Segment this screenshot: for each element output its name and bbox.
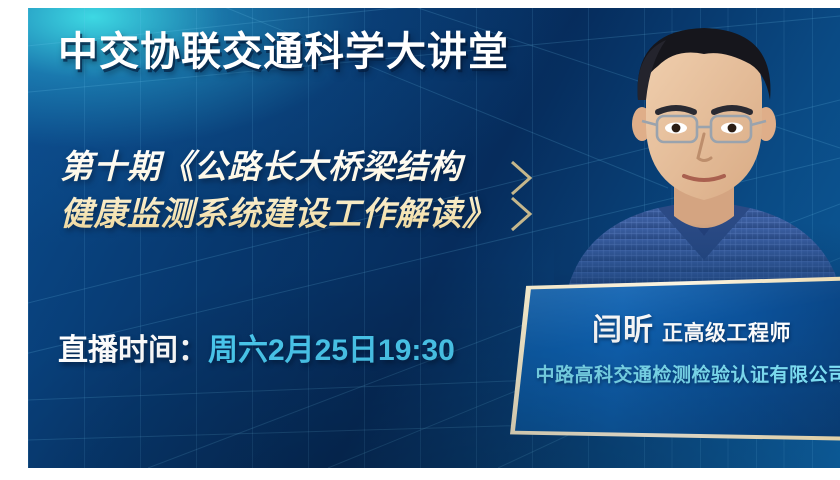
live-time-row: 直播时间：周六2月25日19:30 — [58, 333, 455, 369]
speaker-panel — [515, 280, 840, 437]
speaker-photo — [554, 8, 840, 308]
speaker-role: 正高级工程师 — [662, 322, 791, 345]
page-title: 中交协联交通科学大讲堂 — [58, 30, 509, 74]
subtitle-line-1: 第十期《公路长大桥梁结构 — [60, 148, 462, 185]
speaker-name: 闫昕 — [592, 314, 654, 347]
poster-subtitle: 第十期《公路长大桥梁结构 健康监测系统建设工作解读》 — [60, 144, 580, 238]
promo-poster: 中交协联交通科学大讲堂 第十期《公路长大桥梁结构 健康监测系统建设工作解读》 直… — [0, 0, 840, 480]
poster-artboard: 中交协联交通科学大讲堂 第十期《公路长大桥梁结构 健康监测系统建设工作解读》 直… — [28, 8, 840, 468]
subtitle-line-2: 健康监测系统建设工作解读》 — [60, 191, 580, 238]
speaker-name-row: 闫昕正高级工程师 — [515, 316, 840, 346]
speaker-company: 中路高科交通检测检验认证有限公司 — [515, 360, 840, 387]
live-time-value: 周六2月25日19:30 — [208, 334, 455, 367]
live-time-label: 直播时间： — [58, 334, 208, 367]
